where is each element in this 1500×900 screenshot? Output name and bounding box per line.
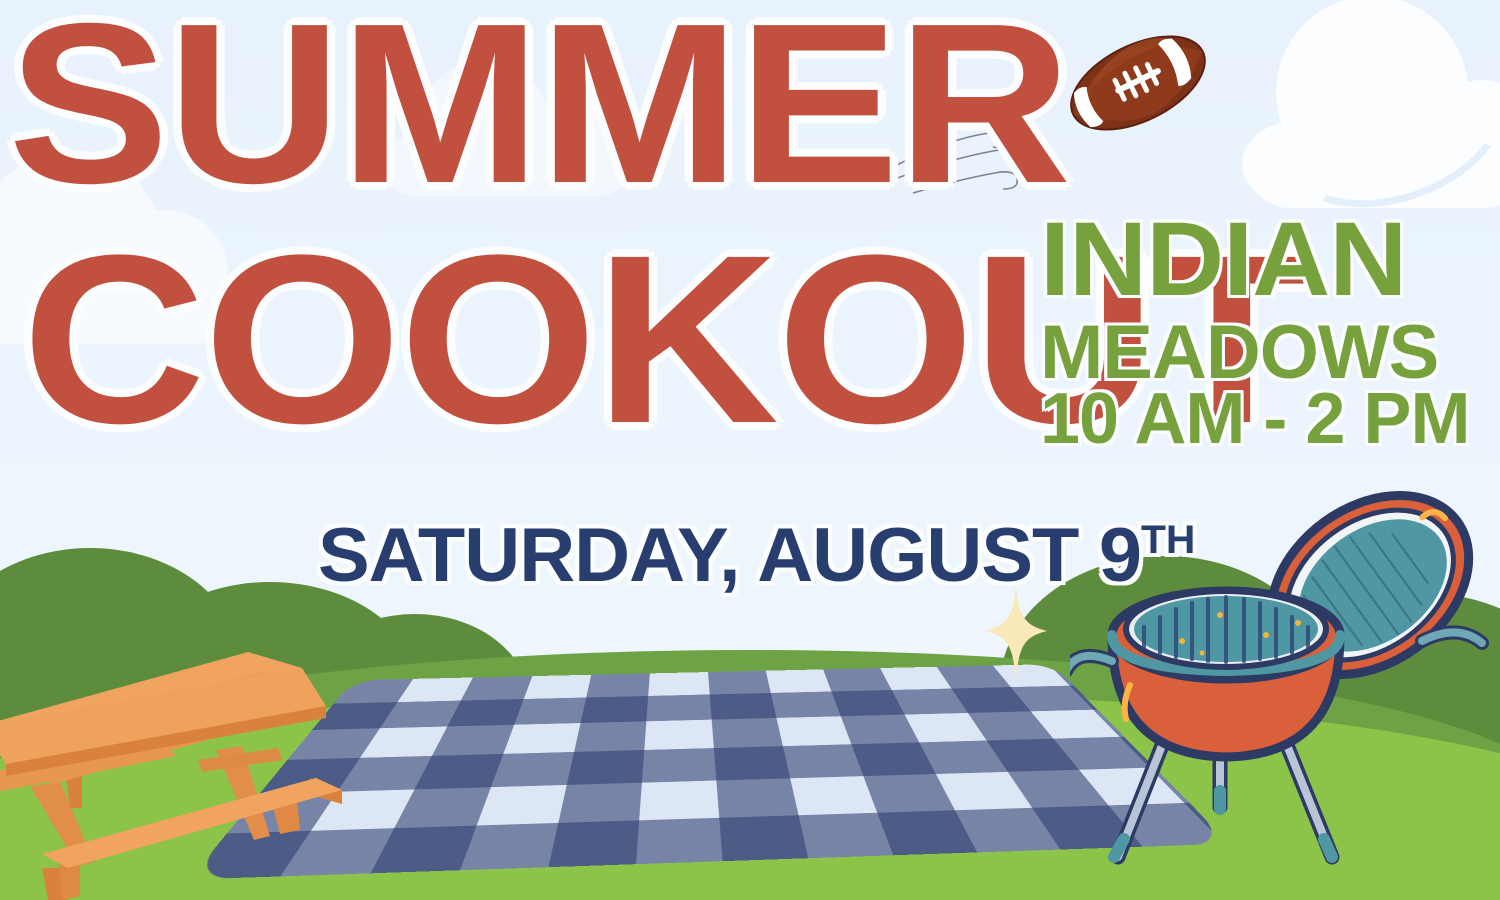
event-date-text: SATURDAY, AUGUST 9 [318, 513, 1141, 598]
venue-name-line-2: MEADOWS [1040, 318, 1438, 388]
venue-name-line-1: INDIAN [1040, 212, 1406, 309]
picnic-table-illustration [0, 600, 400, 900]
football-icon [1058, 18, 1218, 148]
sparkle-icon [985, 585, 1047, 681]
cloud-right [1232, 0, 1500, 209]
event-date: SATURDAY, AUGUST 9TH [318, 512, 1195, 599]
summer-cookout-poster: SUMMER COOKOUT INDIAN MEADOWS 10 AM - 2 … [0, 0, 1500, 900]
page-title-line-1: SUMMER [8, 6, 1069, 202]
event-time-range: 10 AM - 2 PM [1040, 386, 1469, 452]
event-date-ordinal: TH [1141, 518, 1195, 562]
